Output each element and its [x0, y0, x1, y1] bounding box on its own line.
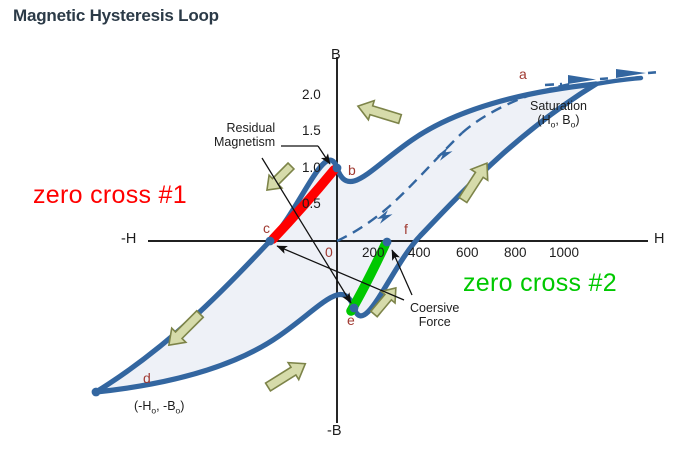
point-label-b: b [348, 163, 356, 178]
x-tick-400: 400 [408, 246, 431, 261]
coersive-line-1: Coersive [410, 302, 459, 316]
point-label-a: a [519, 67, 527, 82]
x-axis-label-left: -H [121, 232, 136, 248]
point-marker-b [333, 164, 342, 173]
point-marker-d [92, 388, 101, 397]
direction-arrow-top-left [355, 97, 403, 129]
point-label-c: c [263, 221, 270, 236]
loop-interior-fill [96, 84, 596, 392]
saturation-annotation: Saturation (Ho, Bo) [530, 100, 587, 129]
point-label-e: e [347, 313, 355, 328]
x-tick-200: 200 [362, 246, 385, 261]
y-tick-0_5: 0.5 [302, 197, 321, 212]
y-tick-1: 1.0 [302, 161, 321, 176]
point-label-f: f [404, 222, 408, 237]
x-axis-label-right: H [654, 232, 664, 248]
origin-label: 0 [325, 245, 333, 260]
residual-line-2: Magnetism [214, 136, 275, 150]
saturation-h-pre: (H [537, 113, 550, 127]
hysteresis-diagram-canvas [0, 0, 692, 474]
y-axis-label-top: B [331, 48, 341, 64]
coersive-line-2: Force [410, 316, 459, 330]
y-axis-label-bottom: -B [327, 424, 342, 440]
y-tick-1_5: 1.5 [302, 124, 321, 139]
zero-cross-2-label: zero cross #2 [463, 270, 617, 297]
neg-sat-h-pre: (-H [134, 399, 151, 413]
saturation-close: ) [575, 113, 579, 127]
point-marker-c [266, 237, 275, 246]
saturation-line-2: (Ho, Bo) [530, 114, 587, 130]
point-label-d: d [143, 371, 151, 386]
residual-magnetism-annotation: Residual Magnetism [214, 122, 275, 149]
x-tick-600: 600 [456, 246, 479, 261]
hysteresis-figure: Magnetic Hysteresis Loop [0, 0, 692, 474]
saturation-b-pre: , B [555, 113, 570, 127]
direction-arrow-bottom-right [263, 355, 311, 395]
neg-sat-b-pre: , -B [156, 399, 175, 413]
x-tick-1000: 1000 [549, 246, 579, 261]
y-tick-2: 2.0 [302, 88, 321, 103]
saturation-line-1: Saturation [530, 100, 587, 114]
coersive-force-annotation: Coersive Force [410, 302, 459, 329]
x-tick-800: 800 [504, 246, 527, 261]
zero-cross-1-label: zero cross #1 [33, 182, 187, 209]
residual-line-1: Residual [214, 122, 275, 136]
negative-saturation-annotation: (-Ho, -Bo) [134, 400, 184, 416]
neg-sat-close: ) [180, 399, 184, 413]
